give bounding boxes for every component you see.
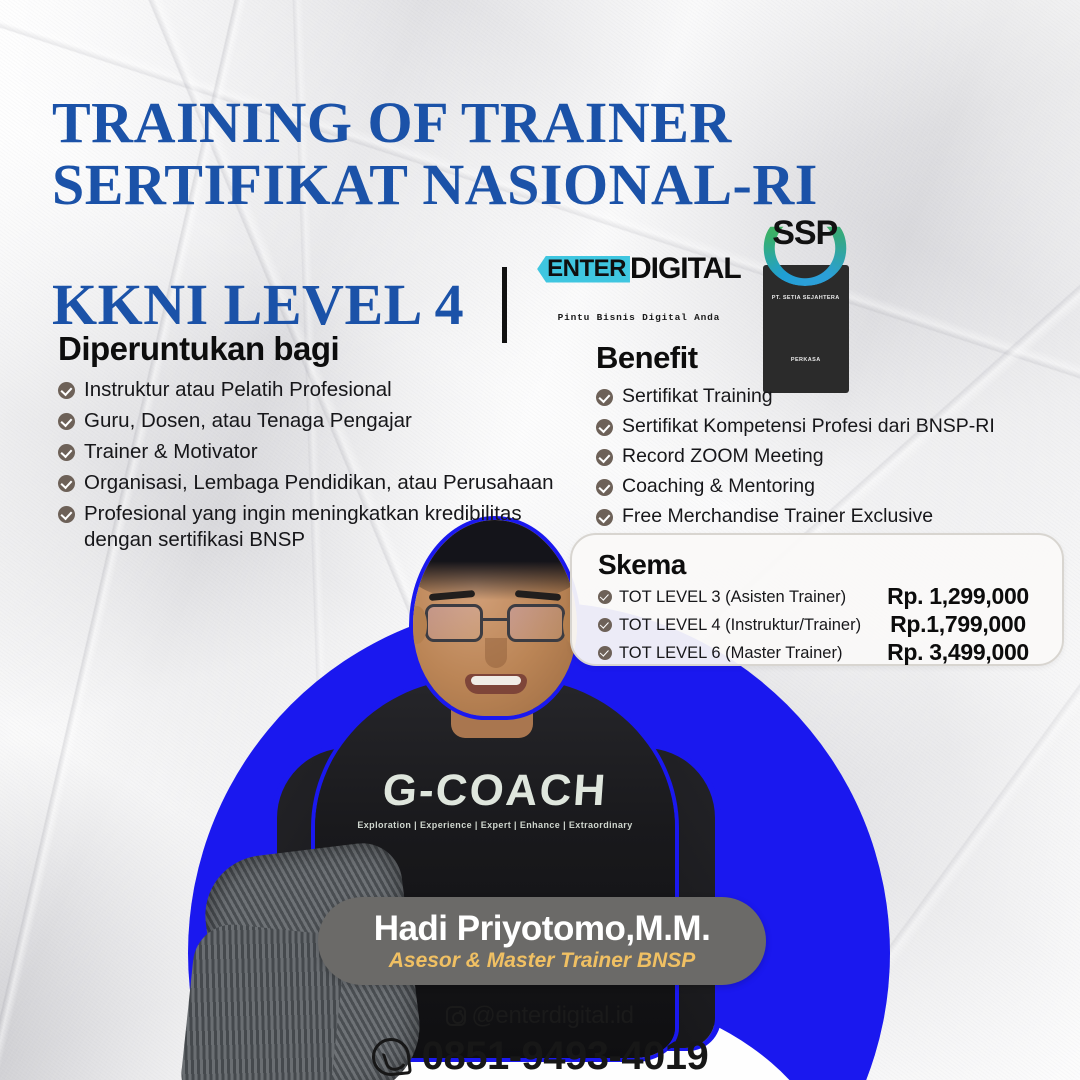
list-item: Profesional yang ingin meningkatkan kred…	[58, 501, 578, 553]
check-circle-icon	[596, 509, 613, 526]
check-circle-icon	[598, 590, 612, 604]
photo-teeth	[471, 676, 521, 685]
list-item: Trainer & Motivator	[58, 439, 578, 465]
benefit-section: Benefit Sertifikat Training Sertifikat K…	[596, 340, 1066, 534]
check-circle-icon	[58, 382, 75, 399]
speaker-name-banner: Hadi Priyotomo,M.M. Asesor & Master Trai…	[318, 897, 766, 985]
list-item: Free Merchandise Trainer Exclusive	[596, 504, 1066, 529]
instagram-handle: @enterdigital.id	[471, 1002, 633, 1030]
check-circle-icon	[596, 449, 613, 466]
diperuntukan-section: Diperuntukan bagi Instruktur atau Pelati…	[58, 330, 578, 558]
check-circle-icon	[58, 506, 75, 523]
list-item-label: Sertifikat Training	[622, 384, 773, 409]
list-item-label: Coaching & Mentoring	[622, 474, 815, 499]
whatsapp-icon	[370, 1036, 412, 1078]
table-row: TOT LEVEL 3 (Asisten Trainer) Rp. 1,299,…	[598, 583, 1046, 610]
ssp-wordmark-text: SSP	[772, 210, 837, 256]
list-item-label: Free Merchandise Trainer Exclusive	[622, 504, 933, 529]
photo-lens-right	[507, 604, 565, 642]
skema-price: Rp.1,799,000	[870, 611, 1046, 638]
list-item: Record ZOOM Meeting	[596, 444, 1066, 469]
diperuntukan-title: Diperuntukan bagi	[58, 330, 578, 368]
list-item-label: Profesional yang ingin meningkatkan kred…	[84, 501, 578, 553]
photo-nose	[485, 638, 507, 668]
list-item: Instruktur atau Pelatih Profesional	[58, 377, 578, 403]
tshirt-main-text: G-COACH	[333, 766, 656, 816]
headline-line-3: KKNI LEVEL 4	[52, 274, 464, 336]
ssp-crescent-icon: SSP	[763, 210, 847, 268]
photo-glasses-bridge	[483, 618, 507, 621]
instagram-contact[interactable]: @enterdigital.id	[0, 1002, 1080, 1030]
benefit-list: Sertifikat Training Sertifikat Kompetens…	[596, 384, 1066, 529]
instagram-icon	[446, 1006, 466, 1026]
whatsapp-number: 0851-9493-4019	[422, 1034, 709, 1079]
list-item: Organisasi, Lembaga Pendidikan, atau Per…	[58, 470, 578, 496]
headline-line-1: TRAINING OF TRAINER	[52, 92, 849, 154]
skema-price: Rp. 1,299,000	[870, 583, 1046, 610]
check-circle-icon	[596, 419, 613, 436]
list-item-label: Organisasi, Lembaga Pendidikan, atau Per…	[84, 470, 554, 496]
skema-level-label-cell: TOT LEVEL 3 (Asisten Trainer)	[598, 586, 870, 608]
digital-wordmark-text: DIGITAL	[630, 254, 741, 284]
skema-level-label: TOT LEVEL 4 (Instruktur/Trainer)	[619, 614, 861, 636]
skema-level-label: TOT LEVEL 3 (Asisten Trainer)	[619, 586, 846, 608]
enter-digital-wordmark: ENTER DIGITAL	[537, 254, 741, 284]
skema-rows: TOT LEVEL 3 (Asisten Trainer) Rp. 1,299,…	[598, 583, 1046, 666]
speaker-name: Hadi Priyotomo,M.M.	[374, 910, 711, 948]
skema-price-card: Skema TOT LEVEL 3 (Asisten Trainer) Rp. …	[570, 533, 1064, 666]
skema-price: Rp. 3,499,000	[870, 639, 1046, 666]
list-item-label: Instruktur atau Pelatih Profesional	[84, 377, 392, 403]
list-item-label: Record ZOOM Meeting	[622, 444, 824, 469]
diperuntukan-list: Instruktur atau Pelatih Profesional Guru…	[58, 377, 578, 553]
list-item-label: Sertifikat Kompetensi Profesi dari BNSP-…	[622, 414, 995, 439]
whatsapp-contact[interactable]: 0851-9493-4019	[0, 1034, 1080, 1079]
contact-footer: @enterdigital.id 0851-9493-4019	[0, 1002, 1080, 1079]
list-item: Sertifikat Kompetensi Profesi dari BNSP-…	[596, 414, 1066, 439]
check-circle-icon	[58, 413, 75, 430]
speaker-role: Asesor & Master Trainer BNSP	[389, 949, 696, 973]
check-circle-icon	[58, 444, 75, 461]
list-item: Guru, Dosen, atau Tenaga Pengajar	[58, 408, 578, 434]
check-circle-icon	[58, 475, 75, 492]
photo-lens-left	[425, 604, 483, 642]
check-circle-icon	[596, 479, 613, 496]
table-row: TOT LEVEL 4 (Instruktur/Trainer) Rp.1,79…	[598, 611, 1046, 638]
skema-level-label-cell: TOT LEVEL 4 (Instruktur/Trainer)	[598, 614, 870, 636]
list-item: Sertifikat Training	[596, 384, 1066, 409]
list-item-label: Trainer & Motivator	[84, 439, 258, 465]
skema-level-label: TOT LEVEL 6 (Master Trainer)	[619, 642, 842, 664]
poster-canvas: TRAINING OF TRAINER SERTIFIKAT NASIONAL-…	[0, 0, 1080, 1080]
check-circle-icon	[596, 389, 613, 406]
list-item: Coaching & Mentoring	[596, 474, 1066, 499]
skema-level-label-cell: TOT LEVEL 6 (Master Trainer)	[598, 642, 870, 664]
skema-title: Skema	[598, 549, 1046, 581]
table-row: TOT LEVEL 6 (Master Trainer) Rp. 3,499,0…	[598, 639, 1046, 666]
enter-arrow-badge-icon: ENTER	[537, 256, 630, 283]
check-circle-icon	[598, 618, 612, 632]
tshirt-sub-text: Exploration | Experience | Expert | Enha…	[335, 820, 655, 830]
list-item-label: Guru, Dosen, atau Tenaga Pengajar	[84, 408, 412, 434]
check-circle-icon	[598, 646, 612, 660]
benefit-title: Benefit	[596, 340, 1066, 376]
tshirt-print: G-COACH Exploration | Experience | Exper…	[335, 766, 655, 830]
photo-mouth	[465, 674, 527, 694]
headline-line-2: SERTIFIKAT NASIONAL-RI	[52, 154, 849, 216]
